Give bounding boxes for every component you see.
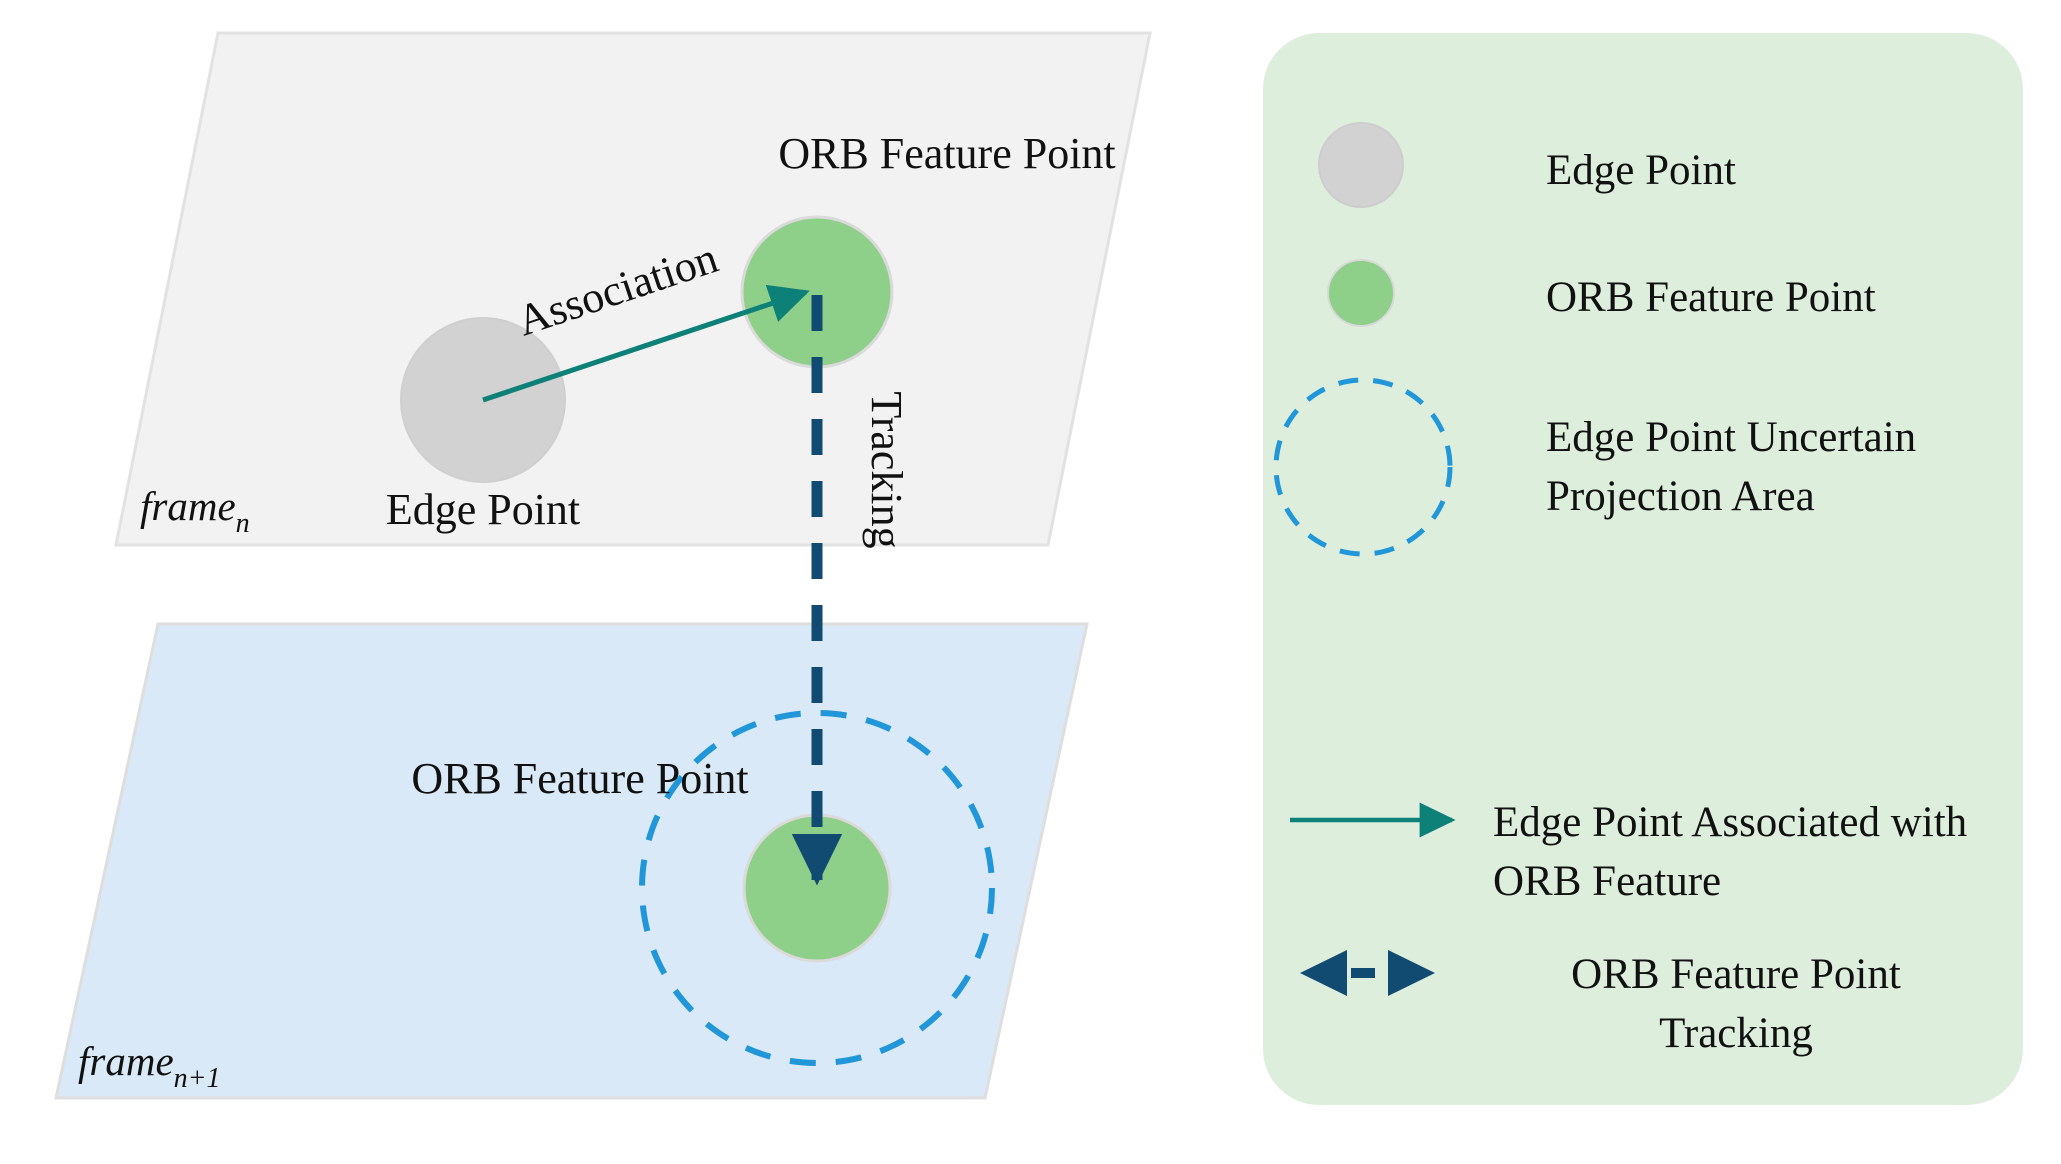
frame-n-orb-feature-point [742,217,892,367]
tracking-label: Tracking [862,391,911,548]
frame-n-plus-1-orb-label: ORB Feature Point [411,754,748,803]
legend-item-label: Edge Point [1546,147,1736,194]
orb-edge-point-tracking-diagram: framen Edge Point ORB Feature Point Asso… [0,0,2061,1164]
frame-n-plane: framen Edge Point ORB Feature Point Asso… [116,33,1150,545]
frame-n-orb-label: ORB Feature Point [778,129,1115,178]
legend-item-label: ORB Feature Point [1546,274,1876,321]
frame-n-plus-1-orb-feature-point [744,815,890,961]
legend-item-label-line1: Edge Point Associated with [1493,799,1967,846]
frame-n-plus-1-parallelogram [56,624,1087,1098]
green-circle-icon [1328,260,1394,326]
diagram-canvas: framen Edge Point ORB Feature Point Asso… [0,0,2061,1164]
frame-n-plus-1-plane: framen+1 ORB Feature Point [56,624,1087,1098]
legend-item-label-line1: ORB Feature Point [1571,951,1901,998]
legend-item-label-line2: Projection Area [1546,473,1815,520]
legend-item-label-line1: Edge Point Uncertain [1546,414,1916,461]
gray-circle-icon [1319,123,1403,207]
legend-item-label-line2: ORB Feature [1493,858,1721,905]
frame-n-edge-point-label: Edge Point [386,485,580,534]
legend-panel: Edge Point ORB Feature Point Edge Point … [1263,33,2023,1105]
legend-item-label-line2: Tracking [1659,1010,1813,1057]
